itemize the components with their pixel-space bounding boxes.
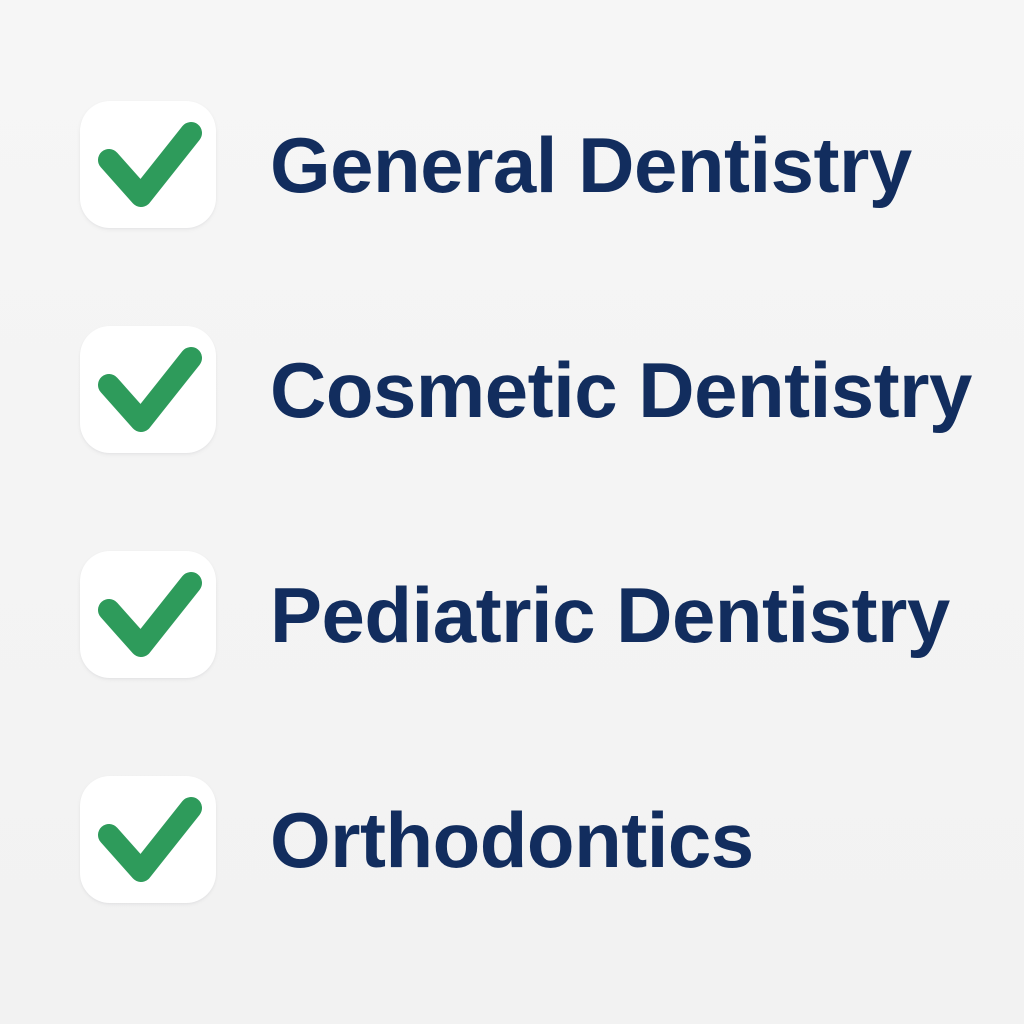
- checklist-label-pediatric-dentistry: Pediatric Dentistry: [270, 576, 950, 654]
- checklist-item-general-dentistry[interactable]: General Dentistry: [80, 101, 1000, 228]
- check-icon: [80, 551, 216, 678]
- check-icon: [80, 326, 216, 453]
- checklist-item-cosmetic-dentistry[interactable]: Cosmetic Dentistry: [80, 326, 1000, 453]
- checkbox-general-dentistry[interactable]: [80, 101, 216, 228]
- checkbox-orthodontics[interactable]: [80, 776, 216, 903]
- checkbox-pediatric-dentistry[interactable]: [80, 551, 216, 678]
- checklist-label-orthodontics: Orthodontics: [270, 801, 754, 879]
- checklist-item-pediatric-dentistry[interactable]: Pediatric Dentistry: [80, 551, 1000, 678]
- checklist-label-cosmetic-dentistry: Cosmetic Dentistry: [270, 351, 972, 429]
- services-checklist: General Dentistry Cosmetic Dentistry Ped…: [80, 101, 1000, 903]
- check-icon: [80, 101, 216, 228]
- checklist-label-general-dentistry: General Dentistry: [270, 126, 912, 204]
- checklist-item-orthodontics[interactable]: Orthodontics: [80, 776, 1000, 903]
- checkbox-cosmetic-dentistry[interactable]: [80, 326, 216, 453]
- check-icon: [80, 776, 216, 903]
- page-canvas: General Dentistry Cosmetic Dentistry Ped…: [0, 0, 1024, 1024]
